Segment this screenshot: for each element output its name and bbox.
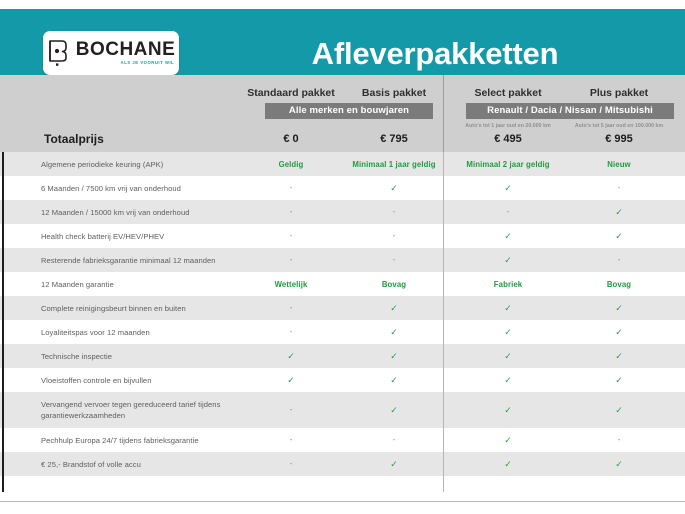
column-header-select: Select pakket — [452, 86, 564, 100]
row-label: Algemene periodieke keuring (APK) — [41, 152, 246, 176]
dash-icon: - — [290, 208, 293, 216]
check-icon: ✓ — [504, 436, 512, 445]
cell-standaard: - — [236, 176, 346, 200]
header-bar: BOCHANE ALS JE VOORUIT WIL Afleverpakket… — [0, 9, 685, 75]
cell-basis: ✓ — [344, 452, 444, 476]
dash-icon: - — [290, 436, 293, 444]
dash-icon: - — [618, 184, 621, 192]
table-row: 12 Maanden / 15000 km vrij van onderhoud… — [0, 200, 685, 224]
cell-select: ✓ — [452, 224, 564, 248]
check-icon: ✓ — [504, 406, 512, 415]
body-group-divider — [443, 152, 444, 492]
cell-plus: - — [563, 176, 675, 200]
cell-select: - — [452, 200, 564, 224]
cell-plus: ✓ — [563, 368, 675, 392]
cell-select: ✓ — [452, 344, 564, 368]
table-row: Pechhulp Europa 24/7 tijdens fabrieksgar… — [0, 428, 685, 452]
cell-plus: ✓ — [563, 392, 675, 428]
price-plus: € 995 — [563, 131, 675, 147]
row-label: Loyaliteitspas voor 12 maanden — [41, 320, 246, 344]
check-icon: ✓ — [504, 376, 512, 385]
table-row: Algemene periodieke keuring (APK)GeldigM… — [0, 152, 685, 176]
table-row: Complete reinigingsbeurt binnen en buite… — [0, 296, 685, 320]
bochane-mark-icon — [47, 38, 71, 68]
logo-wordmark: BOCHANE — [76, 40, 176, 59]
check-icon: ✓ — [287, 376, 295, 385]
dash-icon: - — [393, 208, 396, 216]
cell-basis: Minimaal 1 jaar geldig — [344, 152, 444, 176]
check-icon: ✓ — [390, 406, 398, 415]
cell-value: Minimaal 1 jaar geldig — [352, 160, 435, 169]
column-header-standaard: Standaard pakket — [236, 86, 346, 100]
cell-plus: Nieuw — [563, 152, 675, 176]
cell-basis: - — [344, 224, 444, 248]
cell-value: Bovag — [382, 280, 406, 289]
cell-value: Geldig — [279, 160, 304, 169]
column-note-select: Auto's tot 1 jaar oud en 20.000 km — [452, 122, 564, 131]
row-label: Health check batterij EV/HEV/PHEV — [41, 224, 246, 248]
dash-icon: - — [393, 232, 396, 240]
check-icon: ✓ — [615, 460, 623, 469]
cell-plus: ✓ — [563, 200, 675, 224]
cell-basis: Bovag — [344, 272, 444, 296]
check-icon: ✓ — [390, 460, 398, 469]
check-icon: ✓ — [504, 352, 512, 361]
dash-icon: - — [290, 256, 293, 264]
dash-icon: - — [290, 406, 293, 414]
price-select: € 495 — [452, 131, 564, 147]
brand-logo: BOCHANE ALS JE VOORUIT WIL — [43, 31, 179, 75]
cell-basis: - — [344, 200, 444, 224]
brand-scope-bar-right: Renault / Dacia / Nissan / Mitsubishi — [466, 103, 674, 119]
dash-icon: - — [290, 328, 293, 336]
table-row: 12 Maanden garantieWettelijkBovagFabriek… — [0, 272, 685, 296]
cell-plus: ✓ — [563, 320, 675, 344]
cell-basis: - — [344, 428, 444, 452]
cell-standaard: Wettelijk — [236, 272, 346, 296]
cell-standaard: - — [236, 296, 346, 320]
cell-select: ✓ — [452, 428, 564, 452]
check-icon: ✓ — [615, 208, 623, 217]
dash-icon: - — [507, 208, 510, 216]
check-icon: ✓ — [504, 304, 512, 313]
dash-icon: - — [618, 256, 621, 264]
price-basis: € 795 — [344, 131, 444, 147]
table-row: Loyaliteitspas voor 12 maanden-✓✓✓ — [0, 320, 685, 344]
dash-icon: - — [618, 436, 621, 444]
cell-basis: ✓ — [344, 344, 444, 368]
row-label: Vloeistoffen controle en bijvullen — [41, 368, 246, 392]
check-icon: ✓ — [390, 184, 398, 193]
cell-standaard: - — [236, 452, 346, 476]
table-row: € 25,- Brandstof of volle accu-✓✓✓ — [0, 452, 685, 476]
cell-basis: ✓ — [344, 320, 444, 344]
table-row: Vervangend vervoer tegen gereduceerd tar… — [0, 392, 685, 428]
check-icon: ✓ — [504, 460, 512, 469]
cell-select: ✓ — [452, 392, 564, 428]
table-row: Technische inspectie✓✓✓✓ — [0, 344, 685, 368]
row-label: 12 Maanden / 15000 km vrij van onderhoud — [41, 200, 246, 224]
dash-icon: - — [290, 460, 293, 468]
check-icon: ✓ — [615, 328, 623, 337]
cell-select: Fabriek — [452, 272, 564, 296]
dash-icon: - — [290, 232, 293, 240]
row-label: 12 Maanden garantie — [41, 272, 246, 296]
check-icon: ✓ — [504, 232, 512, 241]
cell-basis: ✓ — [344, 176, 444, 200]
table-row: Health check batterij EV/HEV/PHEV--✓✓ — [0, 224, 685, 248]
cell-plus: ✓ — [563, 224, 675, 248]
cell-plus: Bovag — [563, 272, 675, 296]
cell-value: Minimaal 2 jaar geldig — [466, 160, 549, 169]
cell-standaard: - — [236, 428, 346, 452]
check-icon: ✓ — [615, 232, 623, 241]
cell-select: Minimaal 2 jaar geldig — [452, 152, 564, 176]
cell-basis: - — [344, 248, 444, 272]
comparison-table-body: Algemene periodieke keuring (APK)GeldigM… — [0, 152, 685, 492]
cell-standaard: ✓ — [236, 368, 346, 392]
cell-plus: ✓ — [563, 296, 675, 320]
check-icon: ✓ — [504, 256, 512, 265]
cell-value: Nieuw — [607, 160, 630, 169]
cell-select: ✓ — [452, 452, 564, 476]
price-standaard: € 0 — [236, 131, 346, 147]
cell-standaard: Geldig — [236, 152, 346, 176]
totals-label: Totaalprijs — [44, 131, 104, 147]
cell-standaard: ✓ — [236, 344, 346, 368]
row-label: Pechhulp Europa 24/7 tijdens fabrieksgar… — [41, 428, 246, 452]
row-label: 6 Maanden / 7500 km vrij van onderhoud — [41, 176, 246, 200]
cell-select: ✓ — [452, 320, 564, 344]
cell-plus: ✓ — [563, 344, 675, 368]
check-icon: ✓ — [615, 406, 623, 415]
cell-plus: ✓ — [563, 452, 675, 476]
table-row: 6 Maanden / 7500 km vrij van onderhoud-✓… — [0, 176, 685, 200]
row-label: Vervangend vervoer tegen gereduceerd tar… — [41, 392, 246, 428]
check-icon: ✓ — [287, 352, 295, 361]
cell-select: ✓ — [452, 248, 564, 272]
column-header-plus: Plus pakket — [563, 86, 675, 100]
brand-scope-bar-left: Alle merken en bouwjaren — [265, 103, 433, 119]
check-icon: ✓ — [615, 304, 623, 313]
cell-standaard: - — [236, 320, 346, 344]
row-label: Complete reinigingsbeurt binnen en buite… — [41, 296, 246, 320]
cell-select: ✓ — [452, 368, 564, 392]
cell-standaard: - — [236, 200, 346, 224]
cell-basis: ✓ — [344, 296, 444, 320]
column-note-plus: Auto's tot 5 jaar oud en 100.000 km — [563, 122, 675, 131]
column-header-basis: Basis pakket — [344, 86, 444, 100]
cell-standaard: - — [236, 392, 346, 428]
dash-icon: - — [393, 256, 396, 264]
dash-icon: - — [290, 184, 293, 192]
check-icon: ✓ — [390, 376, 398, 385]
cell-value: Wettelijk — [275, 280, 308, 289]
cell-plus: - — [563, 248, 675, 272]
row-label: Resterende fabrieksgarantie minimaal 12 … — [41, 248, 246, 272]
cell-plus: - — [563, 428, 675, 452]
left-accent-rule — [2, 152, 4, 492]
check-icon: ✓ — [504, 184, 512, 193]
check-icon: ✓ — [615, 352, 623, 361]
dash-icon: - — [393, 436, 396, 444]
cell-basis: ✓ — [344, 392, 444, 428]
logo-tagline: ALS JE VOORUIT WIL — [121, 61, 175, 65]
table-row: Resterende fabrieksgarantie minimaal 12 … — [0, 248, 685, 272]
cell-basis: ✓ — [344, 368, 444, 392]
page-title: Afleverpakketten — [200, 31, 670, 77]
cell-select: ✓ — [452, 176, 564, 200]
check-icon: ✓ — [390, 328, 398, 337]
cell-select: ✓ — [452, 296, 564, 320]
cell-value: Bovag — [607, 280, 631, 289]
infographic-page: BOCHANE ALS JE VOORUIT WIL Afleverpakket… — [0, 0, 685, 514]
check-icon: ✓ — [390, 304, 398, 313]
row-label: Technische inspectie — [41, 344, 246, 368]
cell-value: Fabriek — [494, 280, 522, 289]
cell-standaard: - — [236, 224, 346, 248]
dash-icon: - — [290, 304, 293, 312]
row-label: € 25,- Brandstof of volle accu — [41, 452, 246, 476]
check-icon: ✓ — [615, 376, 623, 385]
check-icon: ✓ — [504, 328, 512, 337]
check-icon: ✓ — [390, 352, 398, 361]
table-bottom-rule — [0, 501, 685, 502]
cell-standaard: - — [236, 248, 346, 272]
table-row: Vloeistoffen controle en bijvullen✓✓✓✓ — [0, 368, 685, 392]
